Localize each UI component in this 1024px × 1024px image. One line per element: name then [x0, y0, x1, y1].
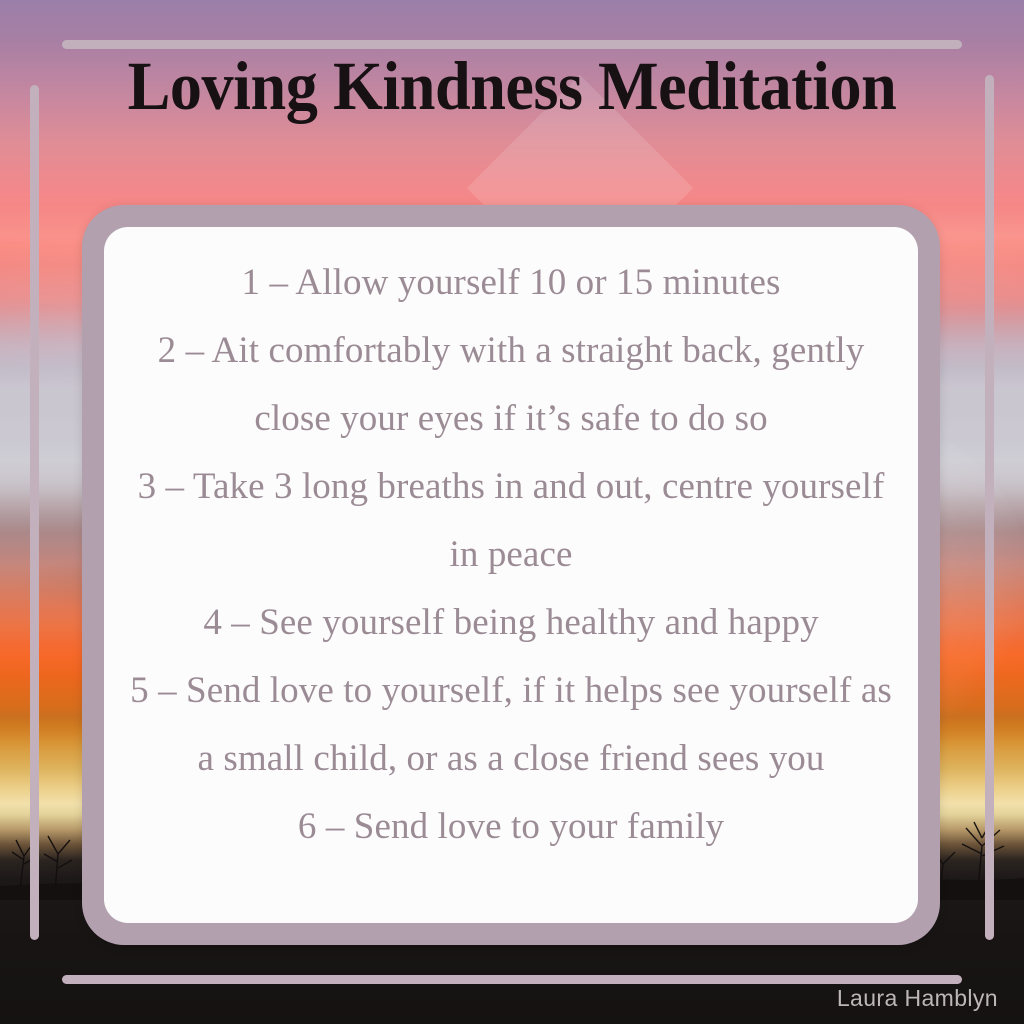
page-title: Loving Kindness Meditation [36, 52, 988, 121]
instructions-card: 1 – Allow yourself 10 or 15 minutes 2 – … [82, 205, 940, 945]
meditation-step-list: 1 – Allow yourself 10 or 15 minutes 2 – … [126, 249, 896, 861]
list-item: 2 – Ait comfortably with a straight back… [126, 317, 896, 453]
list-item: 6 – Send love to your family [126, 793, 896, 861]
instructions-card-body: 1 – Allow yourself 10 or 15 minutes 2 – … [104, 227, 918, 923]
list-item: 1 – Allow yourself 10 or 15 minutes [126, 249, 896, 317]
frame-bar-right [985, 75, 994, 940]
author-signature: Laura Hamblyn [837, 985, 998, 1012]
list-item: 3 – Take 3 long breaths in and out, cent… [126, 453, 896, 589]
list-item: 4 – See yourself being healthy and happy [126, 589, 896, 657]
frame-bar-bottom [62, 975, 962, 984]
frame-bar-left [30, 85, 39, 940]
meditation-poster: Loving Kindness Meditation 1 – Allow you… [0, 0, 1024, 1024]
list-item: 5 – Send love to yourself, if it helps s… [126, 657, 896, 793]
